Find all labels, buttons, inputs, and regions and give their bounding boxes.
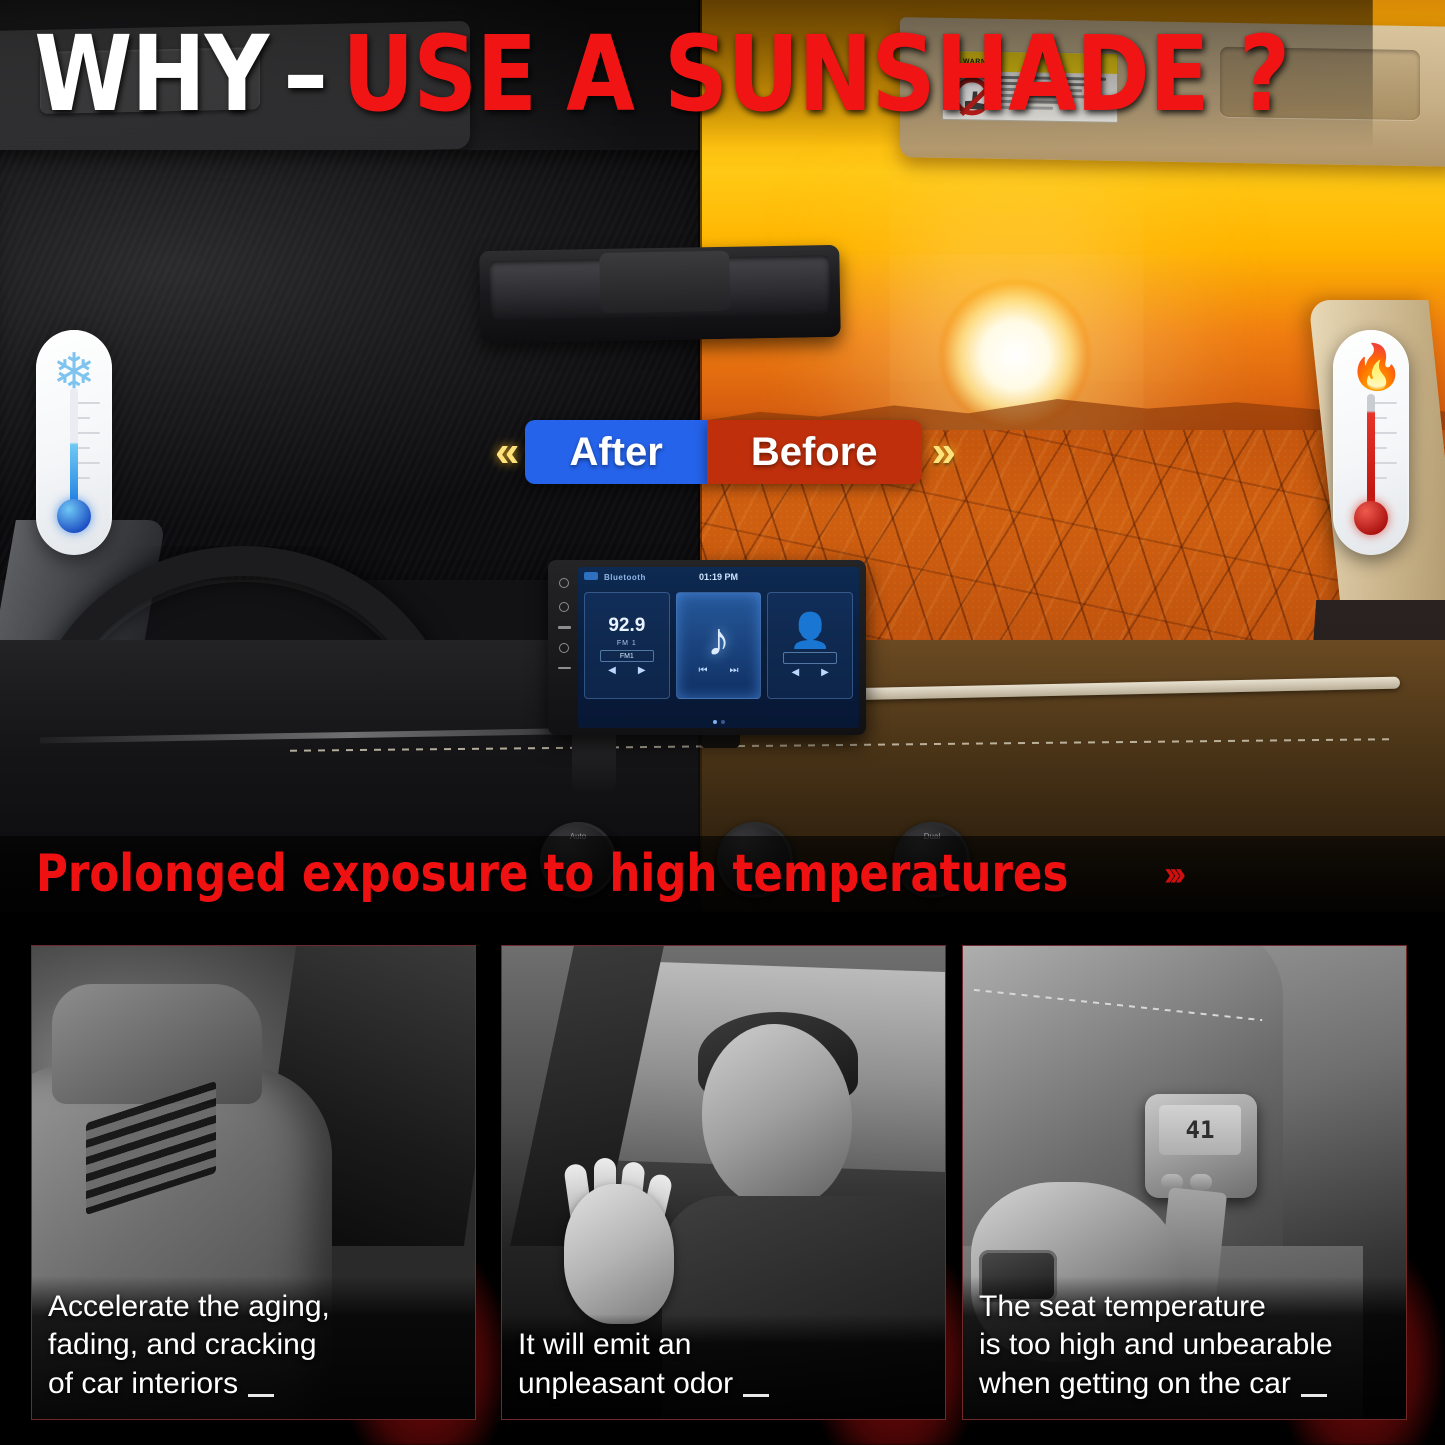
panel-hot-seat-temperature: 41 The seat temperature is too high and …	[962, 945, 1407, 1420]
flame-icon: 🔥	[1349, 342, 1393, 394]
rearview-mirror	[479, 245, 841, 343]
caption-line: It will emit an	[518, 1326, 929, 1364]
clock-label: 01:19 PM	[699, 572, 738, 582]
promo-image: WARNING	[0, 0, 1445, 1445]
power-button-icon[interactable]	[559, 578, 569, 588]
head	[702, 1024, 852, 1209]
bluetooth-icon	[584, 572, 598, 580]
text-cursor	[248, 1394, 274, 1397]
panel-caption-2: It will emit an unpleasant odor	[502, 1314, 945, 1419]
caption-line: is too high and unbearable	[979, 1326, 1390, 1364]
infotainment-status-bar: Bluetooth 01:19 PM	[578, 567, 859, 587]
infotainment-cards: 92.9 FM 1 FM1 ◀ ▶ ♪ ⏮ ⏭	[578, 587, 859, 699]
text-cursor	[1301, 1394, 1327, 1397]
infotainment-screen[interactable]: Bluetooth 01:19 PM 92.9 FM 1 FM1 ◀ ▶	[578, 567, 859, 728]
thermometer-bulb-hot	[1354, 501, 1388, 535]
text-cursor	[743, 1394, 769, 1397]
thermometer-buttons[interactable]	[1161, 1174, 1212, 1190]
panel-caption-3: The seat temperature is too high and unb…	[963, 1276, 1406, 1419]
phone-card[interactable]: 👤 ◀ ▶	[767, 592, 853, 699]
caption-line: fading, and cracking	[48, 1326, 459, 1364]
caption-line: Accelerate the aging,	[48, 1288, 459, 1326]
caption-line: of car interiors	[48, 1365, 459, 1403]
headline-red: USE A SUNSHADE ?	[342, 22, 1289, 126]
caption-line: The seat temperature	[979, 1288, 1390, 1326]
radio-next-icon[interactable]: ▶	[638, 665, 646, 676]
phone-prev-icon[interactable]: ◀	[791, 667, 799, 678]
caption-line: when getting on the car	[979, 1365, 1390, 1403]
before-after-badges: « After Before »	[0, 414, 1445, 490]
radio-preset-button[interactable]: FM1	[600, 650, 654, 662]
infotainment-unit[interactable]: Bluetooth 01:19 PM 92.9 FM 1 FM1 ◀ ▶	[548, 560, 866, 735]
before-badge: Before	[707, 420, 922, 484]
volume-button-icon[interactable]	[558, 626, 571, 629]
thermometer-bulb-cold	[57, 499, 91, 533]
subheadline: Prolonged exposure to high temperatures …	[0, 836, 1445, 912]
consequences-section: Accelerate the aging, fading, and cracki…	[0, 912, 1445, 1445]
phone-contact-button[interactable]	[783, 652, 837, 664]
right-chevron-icon: »	[932, 430, 950, 474]
menu-button-icon[interactable]	[559, 602, 569, 612]
screen-mount	[572, 730, 616, 792]
mirror-mount	[599, 251, 730, 313]
caption-line: unpleasant odor	[518, 1365, 929, 1403]
audio-source-label: Bluetooth	[604, 573, 646, 582]
eject-button-icon[interactable]	[558, 667, 571, 670]
subheadline-text: Prolonged exposure to high temperatures	[36, 848, 1068, 900]
media-card[interactable]: ♪ ⏮ ⏭	[676, 592, 762, 699]
phone-next-icon[interactable]: ▶	[821, 667, 829, 678]
home-button-icon[interactable]	[559, 643, 569, 653]
hero-comparison-section: WARNING	[0, 0, 1445, 912]
media-prev-icon[interactable]: ⏮	[699, 665, 708, 676]
radio-prev-icon[interactable]: ◀	[608, 665, 616, 676]
headline-white: WHY	[34, 22, 268, 126]
music-note-icon: ♪	[707, 616, 730, 662]
page-indicator-dots[interactable]	[713, 720, 725, 724]
page-title: WHY – USE A SUNSHADE ?	[0, 0, 1373, 148]
left-chevron-icon: «	[495, 430, 513, 474]
thermometer-display: 41	[1159, 1105, 1241, 1155]
panel-unpleasant-odor: It will emit an unpleasant odor	[501, 945, 946, 1420]
waving-hand	[564, 1184, 674, 1324]
infotainment-side-buttons[interactable]	[554, 578, 574, 669]
radio-frequency: 92.9	[608, 615, 645, 637]
after-badge: After	[525, 420, 706, 484]
radio-band: FM 1	[617, 640, 637, 647]
radio-card[interactable]: 92.9 FM 1 FM1 ◀ ▶	[584, 592, 670, 699]
panel-car-interior-aging: Accelerate the aging, fading, and cracki…	[31, 945, 476, 1420]
headrest	[52, 984, 262, 1104]
media-transport-arrows[interactable]: ⏮ ⏭	[699, 665, 739, 676]
infrared-thermometer: 41	[1145, 1094, 1257, 1198]
subheadline-chevrons-icon: ›››	[1164, 855, 1180, 894]
media-next-icon[interactable]: ⏭	[730, 665, 739, 676]
radio-tune-arrows[interactable]: ◀ ▶	[608, 665, 645, 676]
person-icon: 👤	[789, 613, 831, 649]
panel-caption-1: Accelerate the aging, fading, and cracki…	[32, 1276, 475, 1419]
phone-arrows[interactable]: ◀ ▶	[791, 667, 828, 678]
headline-dash: –	[283, 22, 326, 126]
